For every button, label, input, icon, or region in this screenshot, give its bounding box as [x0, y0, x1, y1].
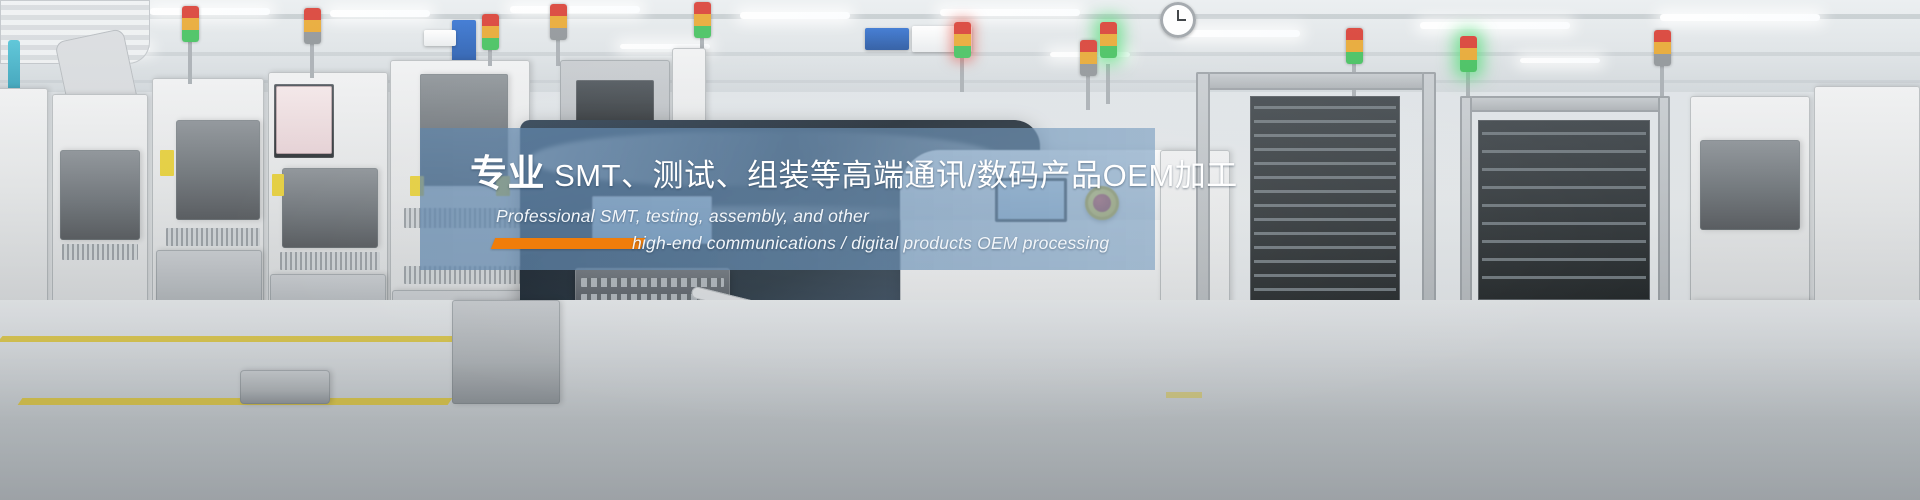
stack-light: [694, 2, 711, 38]
ceiling-light: [1420, 22, 1570, 29]
machine-base: [452, 300, 560, 404]
orange-accent-bar: [491, 238, 645, 249]
ceiling-light: [940, 9, 1080, 16]
banner-subtitle-line-1: Professional SMT, testing, assembly, and…: [496, 206, 869, 227]
stack-light-pole: [1106, 64, 1110, 104]
ceiling-light: [740, 12, 850, 19]
stack-light: [1080, 40, 1097, 76]
stack-light-pole: [1086, 76, 1090, 110]
trolley-frame: [1460, 96, 1670, 112]
stack-light-pole: [310, 44, 314, 78]
stack-light: [550, 4, 567, 40]
storage-rack: [1250, 96, 1400, 306]
ceiling-light: [1180, 30, 1300, 37]
headline-rest: SMT、测试、组装等高端通讯/数码产品OEM加工: [545, 158, 1238, 193]
banner-subtitle-line-2: high-end communications / digital produc…: [632, 233, 1109, 254]
stack-light: [304, 8, 321, 44]
hanging-sign: [424, 30, 456, 46]
trolley-frame: [1196, 72, 1436, 90]
floor-marking: [1166, 392, 1202, 398]
headline-emphasis: 专业: [470, 153, 545, 194]
ceiling-light: [1520, 58, 1600, 63]
ceiling-light: [510, 6, 640, 13]
machine-vent: [280, 252, 380, 270]
safety-marker: [272, 174, 284, 196]
smt-machine-panel: [282, 168, 378, 248]
machine-base: [240, 370, 330, 404]
stack-light: [1654, 30, 1671, 66]
stack-light-pole: [960, 58, 964, 92]
control-row: [581, 278, 724, 287]
ceiling-light: [330, 10, 430, 17]
storage-rack: [1478, 120, 1650, 300]
smt-machine-panel: [176, 120, 260, 220]
stack-light: [182, 6, 199, 42]
stack-light: [1346, 28, 1363, 64]
text-overlay-panel: 专业 SMT、测试、组装等高端通讯/数码产品OEM加工 Professional…: [420, 128, 1155, 270]
smt-machine-panel: [60, 150, 140, 240]
machine-screen: [276, 86, 332, 154]
floor-marking: [0, 336, 473, 342]
machine-vent: [166, 228, 260, 246]
ceiling-light: [150, 8, 270, 15]
banner-headline: 专业 SMT、测试、组装等高端通讯/数码产品OEM加工: [470, 155, 1238, 192]
floor-marking: [18, 398, 453, 405]
ceiling-light: [1660, 14, 1820, 21]
smt-machine: [0, 88, 48, 318]
stack-light: [1100, 22, 1117, 58]
stack-light-pole: [188, 42, 192, 84]
hanging-sign: [865, 28, 909, 50]
smt-machine-panel: [1700, 140, 1800, 230]
stack-light-pole: [1660, 66, 1664, 98]
machine-vent: [62, 244, 138, 260]
wall-clock: [1160, 2, 1196, 38]
safety-marker: [160, 150, 174, 176]
stack-light: [482, 14, 499, 50]
banner-hero: 专业 SMT、测试、组装等高端通讯/数码产品OEM加工 Professional…: [0, 0, 1920, 500]
stack-light: [1460, 36, 1477, 72]
stack-light: [954, 22, 971, 58]
